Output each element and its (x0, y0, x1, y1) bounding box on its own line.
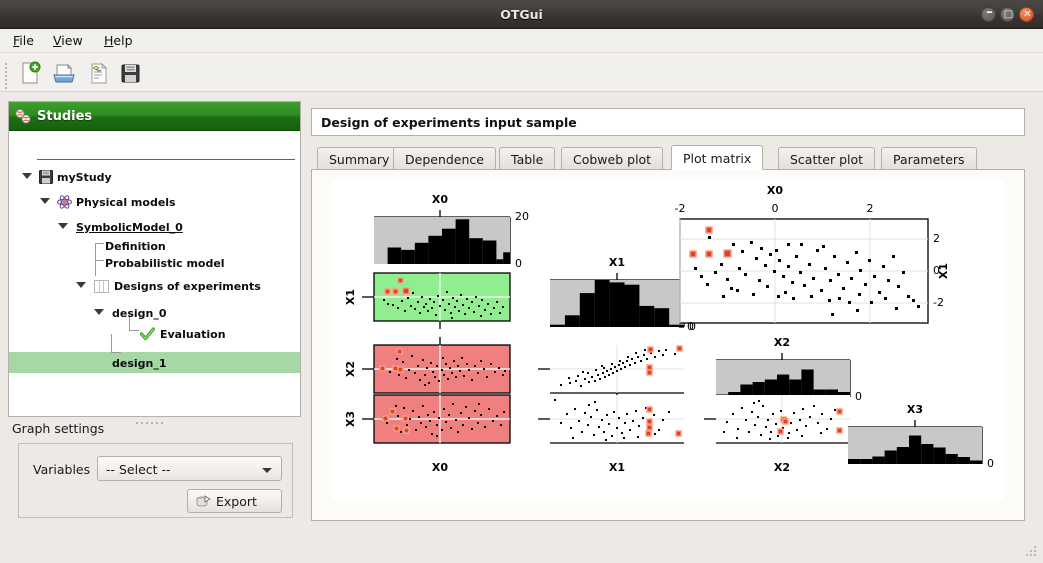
enlarged-xtick--2: -2 (675, 202, 686, 215)
doe-title-box: Design of experiments input sample (311, 108, 1025, 136)
tab-cobweb-plot[interactable]: Cobweb plot (561, 147, 663, 170)
tab-scatter-plot[interactable]: Scatter plot (778, 147, 875, 170)
open-folder-icon (50, 59, 78, 87)
export-button-label: Export (216, 490, 257, 514)
resize-grip[interactable] (1025, 546, 1038, 559)
tab-table[interactable]: Table (499, 147, 555, 170)
tree-underline (37, 159, 295, 160)
chevron-down-icon[interactable] (22, 173, 32, 179)
menubar: File View Help (0, 29, 1043, 53)
tree-item-mystudy[interactable]: myStudy (9, 167, 112, 186)
tree-item-probabilistic-model[interactable]: Probabilistic model (9, 253, 225, 272)
atom-icon (57, 195, 72, 209)
enlarged-axis-label-x1: X1 (937, 263, 950, 279)
menu-view[interactable]: View (44, 29, 92, 53)
import-python-icon (84, 59, 112, 87)
studies-panel: Studies myStudy (8, 101, 301, 417)
toolbar-drag-handle[interactable] (4, 61, 9, 84)
studies-header: Studies (9, 102, 300, 131)
page-title: Design of experiments input sample (321, 109, 577, 137)
close-button[interactable]: ✕ (1019, 7, 1034, 22)
tree-item-design-0[interactable]: design_0 (9, 303, 167, 322)
tree-item-label: Definition (105, 240, 166, 253)
new-document-icon (16, 59, 44, 87)
tab-plot-matrix[interactable]: Plot matrix (671, 145, 763, 170)
tick-0-left: 0 (687, 320, 694, 333)
export-icon (196, 495, 212, 509)
tree-item-symbolicmodel-0[interactable]: SymbolicModel_0 (9, 217, 183, 236)
tree-item-design-1[interactable]: design_1 (9, 353, 167, 372)
open-study-button[interactable] (50, 59, 78, 87)
chevron-down-icon (262, 468, 272, 473)
chevron-down-icon[interactable] (58, 223, 68, 229)
axis-label-x3-left: X3 (344, 411, 357, 427)
tree-item-label: Physical models (76, 196, 176, 209)
tree-item-label: myStudy (57, 171, 112, 184)
variables-select-value: -- Select -- (106, 457, 171, 482)
chevron-down-icon[interactable] (94, 309, 104, 315)
minimize-button[interactable]: – (981, 7, 996, 22)
minimize-icon: – (982, 8, 997, 21)
axis-label-x2-top: X2 (774, 336, 790, 349)
tree-item-label: design_1 (112, 357, 167, 370)
studies-icon (15, 109, 32, 124)
tree-item-label: design_0 (112, 307, 167, 320)
axis-label-x3-top: X3 (907, 403, 923, 416)
menu-file-rest: ile (19, 33, 34, 48)
plot-matrix-canvas[interactable]: .ax { stroke:#000; stroke-width:1.3; fil… (332, 179, 1004, 501)
floppy-save-icon (116, 59, 144, 87)
tree-item-label: Probabilistic model (105, 257, 225, 270)
toolbar (0, 53, 1043, 92)
tree-item-label: Designs of experiments (114, 280, 261, 293)
splitter-grip[interactable] (136, 413, 166, 427)
maximize-button[interactable]: □ (1000, 7, 1015, 22)
window-title: OTGui (0, 0, 1043, 29)
import-script-button[interactable] (84, 59, 112, 87)
tab-parameters[interactable]: Parameters (881, 147, 977, 170)
axis-label-x1-left: X1 (344, 289, 357, 305)
enlarged-xtick-2: 2 (867, 202, 874, 215)
axis-label-x2-left: X2 (344, 361, 357, 377)
export-button[interactable]: Export (187, 489, 282, 513)
chevron-down-icon[interactable] (76, 282, 86, 288)
studies-header-label: Studies (37, 102, 92, 131)
axis-label-x2-bottom: X2 (774, 461, 790, 474)
tick-0: 0 (515, 257, 522, 270)
tab-summary[interactable]: Summary (317, 147, 401, 170)
menu-file[interactable]: File (4, 29, 43, 53)
tree-item-physical-models[interactable]: Physical models (9, 192, 176, 211)
window-titlebar: OTGui – □ ✕ (0, 0, 1043, 29)
new-study-button[interactable] (16, 59, 44, 87)
graph-settings-box: Variables -- Select -- Export (18, 443, 293, 518)
axis-label-x0-bottom: X0 (432, 461, 448, 474)
tree-item-evaluation[interactable]: Evaluation (9, 324, 226, 343)
axis-label-x1-bottom: X1 (609, 461, 625, 474)
plot-matrix-svg: .ax { stroke:#000; stroke-width:1.3; fil… (332, 179, 1004, 501)
close-icon: ✕ (1020, 8, 1035, 21)
check-icon (140, 327, 155, 341)
menu-view-rest: iew (61, 33, 82, 48)
tab-page-plot-matrix: .ax { stroke:#000; stroke-width:1.3; fil… (311, 169, 1025, 521)
tab-bar: Summary Dependence Table Cobweb plot Plo… (311, 145, 1025, 170)
menu-help-rest: elp (113, 33, 132, 48)
tree-item-designs-of-experiments[interactable]: Designs of experiments (9, 276, 261, 295)
tick-0: 0 (987, 457, 994, 470)
enlarged-axis-label-x0: X0 (767, 184, 783, 197)
main-panel: Design of experiments input sample Summa… (311, 101, 1035, 525)
tree-item-label: SymbolicModel_0 (76, 221, 183, 234)
enlarged-xtick-0: 0 (772, 202, 779, 215)
studies-tree: myStudy Physical models SymbolicModel_0 … (9, 131, 300, 416)
floppy-icon (39, 170, 53, 184)
tab-dependence[interactable]: Dependence (393, 147, 496, 170)
enlarged-ytick--2: -2 (933, 296, 944, 309)
menu-help[interactable]: Help (95, 29, 142, 53)
chevron-down-icon[interactable] (40, 198, 50, 204)
tree-item-label: Evaluation (160, 328, 226, 341)
maximize-icon: □ (1001, 8, 1016, 21)
enlarged-ytick-2: 2 (933, 232, 940, 245)
tick-0: 0 (855, 390, 862, 403)
graph-settings-title: Graph settings (12, 421, 104, 436)
table-icon (94, 280, 109, 293)
variables-label: Variables (33, 462, 90, 477)
axis-label-x1-top: X1 (609, 256, 625, 269)
save-study-button[interactable] (116, 59, 144, 87)
variables-select[interactable]: -- Select -- (97, 456, 282, 481)
panel-splitter[interactable] (8, 409, 301, 420)
tick-20: 20 (515, 210, 529, 223)
axis-label-x0-top: X0 (432, 193, 448, 206)
